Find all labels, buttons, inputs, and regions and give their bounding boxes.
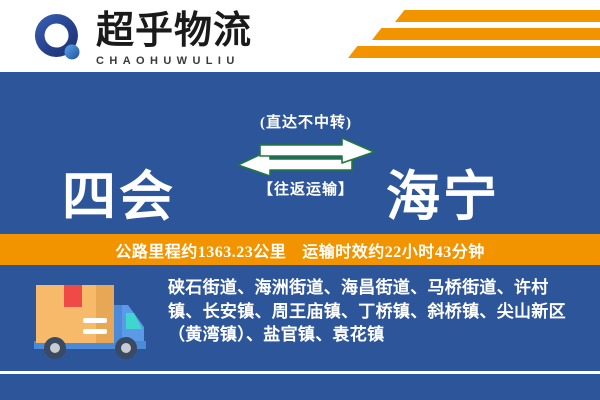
banner-header: 超乎物流 CHAOHUWULIU bbox=[0, 0, 600, 72]
brand-block: 超乎物流 CHAOHUWULIU bbox=[96, 10, 276, 68]
origin-city: 四会 bbox=[62, 168, 176, 226]
stripe-3 bbox=[348, 46, 600, 58]
direct-shipping-note: (直达不中转) bbox=[236, 113, 376, 133]
stripe-2 bbox=[372, 28, 600, 40]
roundtrip-note: 【往返运输】 bbox=[236, 180, 376, 200]
brand-name-en: CHAOHUWULIU bbox=[96, 54, 276, 68]
coverage-panel: 硖石街道、海洲街道、海昌街道、马桥街道、许村镇、长安镇、周王庙镇、丁桥镇、斜桥镇… bbox=[0, 265, 600, 372]
double-headed-arrow-icon bbox=[236, 138, 376, 176]
route-panel: 四会 (直达不中转) 【往返运输】 海宁 bbox=[0, 75, 600, 232]
delivery-truck-icon bbox=[26, 275, 156, 363]
destination-city: 海宁 bbox=[386, 168, 500, 226]
circle-crescent-logo-icon bbox=[34, 13, 84, 63]
distance-label: 公路里程约1363.23公里 bbox=[115, 238, 286, 262]
route-info-bar: 公路里程约1363.23公里 运输时效约22小时43分钟 bbox=[0, 234, 600, 265]
footer-strip bbox=[0, 374, 600, 400]
brand-name-cn: 超乎物流 bbox=[96, 10, 276, 52]
stripe-1 bbox=[395, 10, 600, 22]
logistics-route-banner: 超乎物流 CHAOHUWULIU 四会 (直达不中转) 【往返运输】 海 bbox=[0, 0, 600, 400]
duration-label: 运输时效约22小时43分钟 bbox=[302, 238, 485, 262]
orange-chevron-stripes-icon bbox=[350, 6, 600, 68]
coverage-areas-text: 硖石街道、海洲街道、海昌街道、马桥街道、许村镇、长安镇、周王庙镇、丁桥镇、斜桥镇… bbox=[168, 276, 582, 347]
route-middle-block: (直达不中转) 【往返运输】 bbox=[236, 113, 376, 200]
